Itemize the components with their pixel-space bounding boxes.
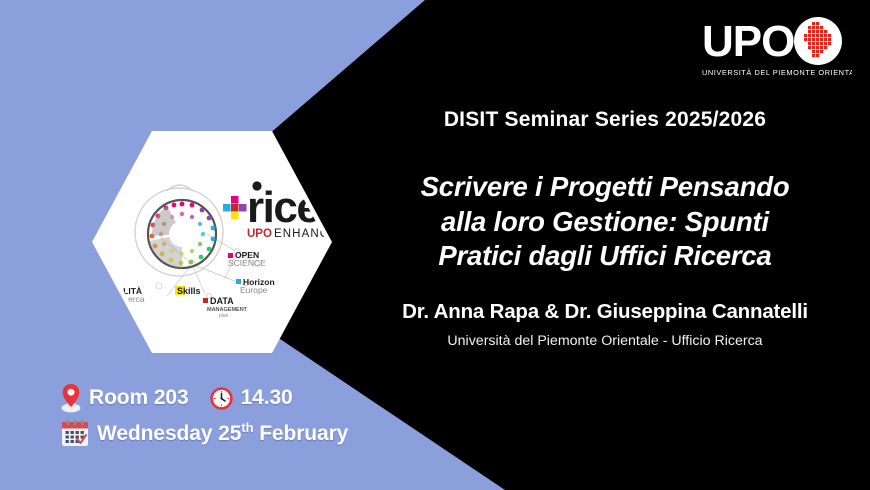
svg-text:plan: plan — [219, 313, 229, 319]
event-date: Wednesday 25th February — [60, 418, 348, 448]
event-details-row-date: Wednesday 25th February — [60, 418, 460, 448]
clock-icon — [209, 386, 234, 411]
svg-text:Skills: Skills — [177, 286, 201, 296]
event-date-month: February — [259, 422, 348, 445]
svg-text:ENHANCING RESEARCH: ENHANCING RESEARCH — [274, 228, 327, 240]
seminar-series-label: DISIT Seminar Series 2025/2026 — [444, 108, 766, 132]
event-date-weekday: Wednesday — [97, 422, 212, 445]
svg-text:UPO: UPO — [247, 228, 272, 240]
location-pin-icon — [60, 383, 82, 413]
seminar-poster: ricerca UPO ENHANCING RESEARCH OPEN SCIE… — [0, 0, 870, 490]
event-date-ordinal: th — [241, 420, 253, 435]
title-line-2: alla loro Gestione: Spunti — [355, 205, 855, 240]
event-time-label: 14.30 — [241, 386, 293, 410]
title-line-1: Scrivere i Progetti Pensando — [355, 170, 855, 205]
svg-text:SCIENCE: SCIENCE — [228, 258, 266, 268]
speaker-names: Dr. Anna Rapa & Dr. Giuseppina Cannatell… — [402, 300, 808, 324]
seminar-title: Scrivere i Progetti Pensando alla loro G… — [355, 170, 855, 274]
title-line-3: Pratici dagli Uffici Ricerca — [355, 239, 855, 274]
event-details: Room 203 — [60, 383, 460, 448]
calendar-icon — [60, 418, 90, 448]
event-details-row-location-time: Room 203 — [60, 383, 460, 413]
event-time: 14.30 — [209, 386, 293, 411]
event-date-day: 25 — [218, 422, 241, 445]
event-room-label: Room 203 — [89, 386, 189, 410]
event-date-label: Wednesday 25th February — [97, 420, 348, 446]
speaker-affiliation: Università del Piemonte Orientale - Uffi… — [447, 333, 762, 349]
svg-text:DATA: DATA — [210, 296, 234, 306]
svg-text:Europe: Europe — [240, 285, 268, 295]
event-room: Room 203 — [60, 383, 189, 413]
